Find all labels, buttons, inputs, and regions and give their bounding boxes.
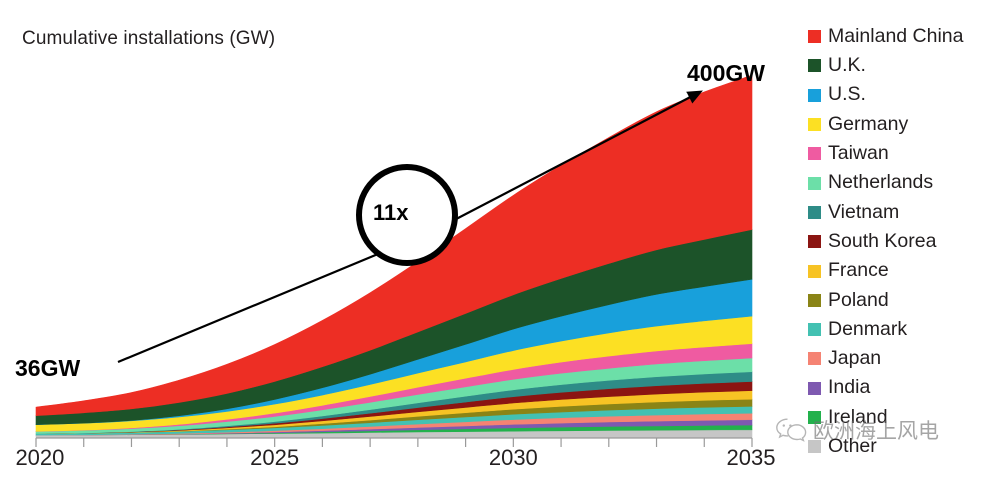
x-tick-label: 2030 <box>489 445 538 471</box>
legend-item-label: Netherlands <box>828 173 933 193</box>
chart-container: Cumulative installations (GW) 36GW 400GW… <box>0 0 1000 480</box>
legend-swatch-icon <box>808 411 821 424</box>
legend-item[interactable]: Taiwan <box>808 139 1000 168</box>
legend-swatch-icon <box>808 323 821 336</box>
legend-swatch-icon <box>808 59 821 72</box>
legend-item-label: Ireland <box>828 408 888 428</box>
legend-swatch-icon <box>808 352 821 365</box>
x-tick-label: 2020 <box>15 445 64 471</box>
legend-item-label: South Korea <box>828 232 936 252</box>
legend-item-label: Germany <box>828 115 908 135</box>
legend-swatch-icon <box>808 118 821 131</box>
end-value-label: 400GW <box>687 60 765 87</box>
legend-item-label: Mainland China <box>828 27 964 47</box>
legend-item-label: Poland <box>828 291 889 311</box>
legend-swatch-icon <box>808 265 821 278</box>
legend-swatch-icon <box>808 206 821 219</box>
legend-swatch-icon <box>808 147 821 160</box>
legend-item[interactable]: U.S. <box>808 81 1000 110</box>
legend-item[interactable]: Poland <box>808 286 1000 315</box>
legend-item-label: Denmark <box>828 320 907 340</box>
legend-item-label: Vietnam <box>828 203 899 223</box>
legend-item-label: Taiwan <box>828 144 889 164</box>
x-tick-label: 2035 <box>727 445 776 471</box>
start-value-label: 36GW <box>15 355 80 382</box>
legend-item[interactable]: Mainland China <box>808 22 1000 51</box>
x-axis <box>36 438 752 447</box>
legend-item-label: U.K. <box>828 56 866 76</box>
legend-swatch-icon <box>808 382 821 395</box>
legend-swatch-icon <box>808 177 821 190</box>
legend-item[interactable]: Japan <box>808 344 1000 373</box>
legend-swatch-icon <box>808 89 821 102</box>
legend-swatch-icon <box>808 235 821 248</box>
legend-swatch-icon <box>808 30 821 43</box>
legend-item[interactable]: India <box>808 374 1000 403</box>
legend-item-label: India <box>828 378 870 398</box>
chart-legend: Mainland ChinaU.K.U.S.GermanyTaiwanNethe… <box>808 22 1000 461</box>
legend-item[interactable]: Netherlands <box>808 168 1000 197</box>
growth-multiplier-label: 11x <box>373 200 409 226</box>
legend-item-label: Japan <box>828 349 881 369</box>
legend-item[interactable]: Vietnam <box>808 198 1000 227</box>
legend-item[interactable]: Ireland <box>808 403 1000 432</box>
legend-item[interactable]: Germany <box>808 110 1000 139</box>
x-tick-label: 2025 <box>250 445 299 471</box>
legend-swatch-icon <box>808 440 821 453</box>
stacked-area-plot <box>0 0 800 480</box>
legend-item[interactable]: Denmark <box>808 315 1000 344</box>
legend-item[interactable]: Other <box>808 432 1000 461</box>
legend-item-label: France <box>828 261 889 281</box>
legend-item[interactable]: France <box>808 256 1000 285</box>
legend-item[interactable]: South Korea <box>808 227 1000 256</box>
legend-item-label: Other <box>828 437 877 457</box>
legend-swatch-icon <box>808 294 821 307</box>
legend-item[interactable]: U.K. <box>808 51 1000 80</box>
legend-item-label: U.S. <box>828 85 866 105</box>
